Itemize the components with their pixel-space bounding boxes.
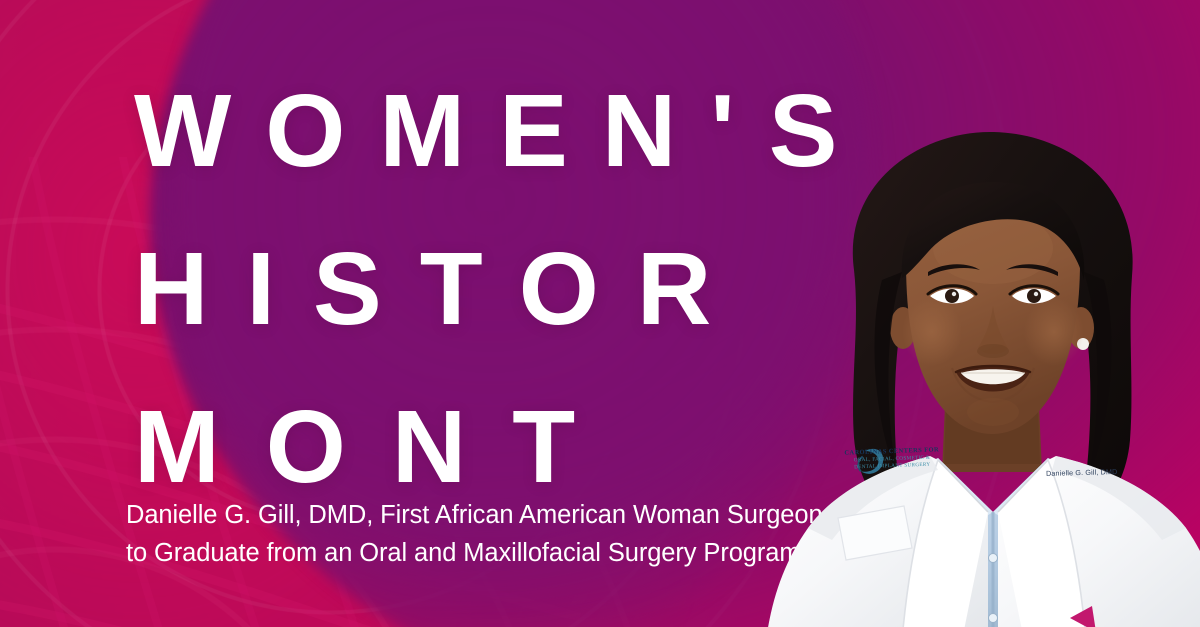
subtitle-line-1: Danielle G. Gill, DMD, First African Ame… [126,496,826,534]
subtitle-line-2: to Graduate from an Oral and Maxillofaci… [126,534,826,572]
portrait-photo [762,120,1200,627]
subtitle: Danielle G. Gill, DMD, First African Ame… [126,496,826,572]
womens-history-month-banner: WOMEN'S HISTOR MONT Danielle G. Gill, DM… [0,0,1200,627]
